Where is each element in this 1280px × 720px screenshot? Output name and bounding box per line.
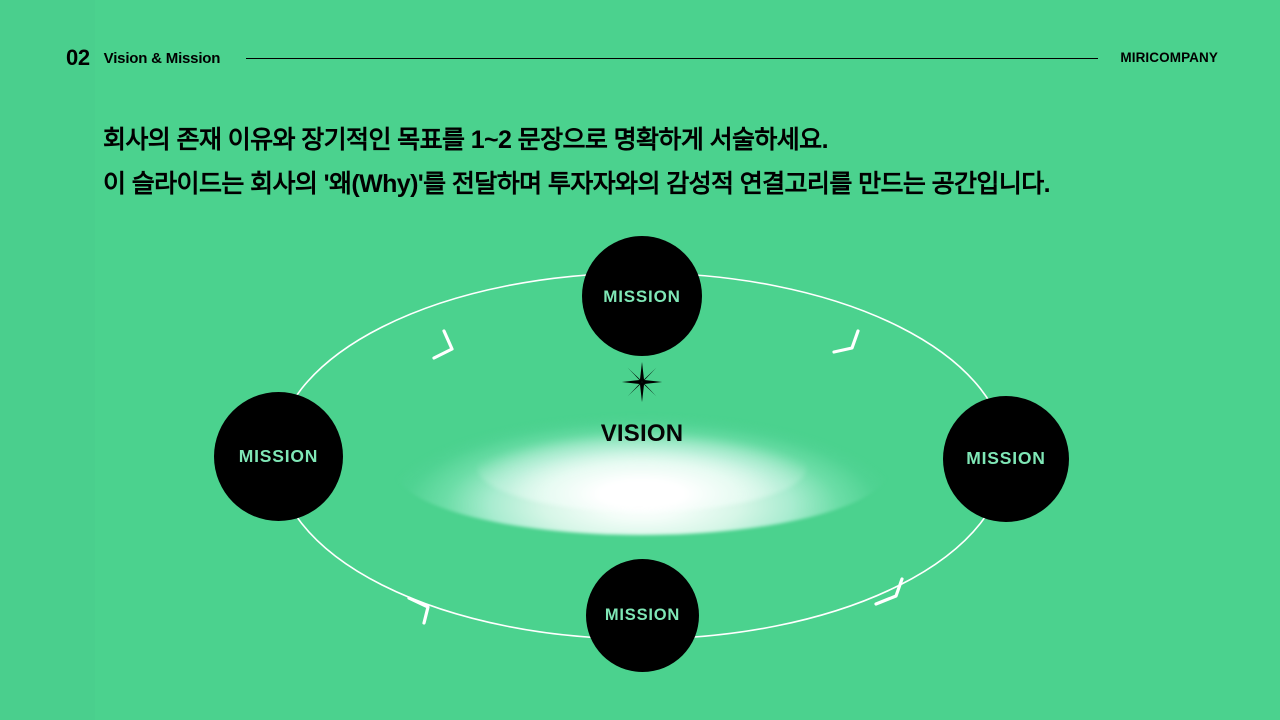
section-title: Vision & Mission <box>104 51 221 66</box>
mission-node-bottom-label: MISSION <box>605 607 680 624</box>
slide-canvas: 02 Vision & Mission MIRICOMPANY 회사의 존재 이… <box>0 0 1280 720</box>
vision-mission-diagram: VISION MISSION MISSION MISSION MISSION <box>0 200 1280 720</box>
company-brand-label: MIRICOMPANY <box>1120 51 1218 65</box>
section-number: 02 <box>66 47 90 69</box>
orbit-arrow-top-right-icon <box>834 331 858 352</box>
mission-node-left[interactable]: MISSION <box>214 392 343 521</box>
mission-node-right[interactable]: MISSION <box>943 396 1069 522</box>
mission-node-bottom[interactable]: MISSION <box>586 559 699 672</box>
orbit-arrow-top-left-icon <box>434 331 452 358</box>
orbit-arrow-bottom-left-icon <box>409 598 428 623</box>
sparkle-icon <box>620 360 664 404</box>
mission-node-left-label: MISSION <box>239 448 319 466</box>
vision-center-group: VISION <box>500 360 784 480</box>
body-copy-line-1: 회사의 존재 이유와 장기적인 목표를 1~2 문장으로 명확하게 서술하세요. <box>103 118 1223 162</box>
body-copy-block: 회사의 존재 이유와 장기적인 목표를 1~2 문장으로 명확하게 서술하세요.… <box>103 118 1223 206</box>
header-divider-line <box>246 58 1098 59</box>
mission-node-top-label: MISSION <box>603 288 680 305</box>
vision-label: VISION <box>601 422 684 446</box>
slide-header: 02 Vision & Mission MIRICOMPANY <box>0 42 1280 74</box>
mission-node-right-label: MISSION <box>966 450 1046 468</box>
mission-node-top[interactable]: MISSION <box>582 236 702 356</box>
orbit-arrow-bottom-right-icon <box>876 579 902 604</box>
